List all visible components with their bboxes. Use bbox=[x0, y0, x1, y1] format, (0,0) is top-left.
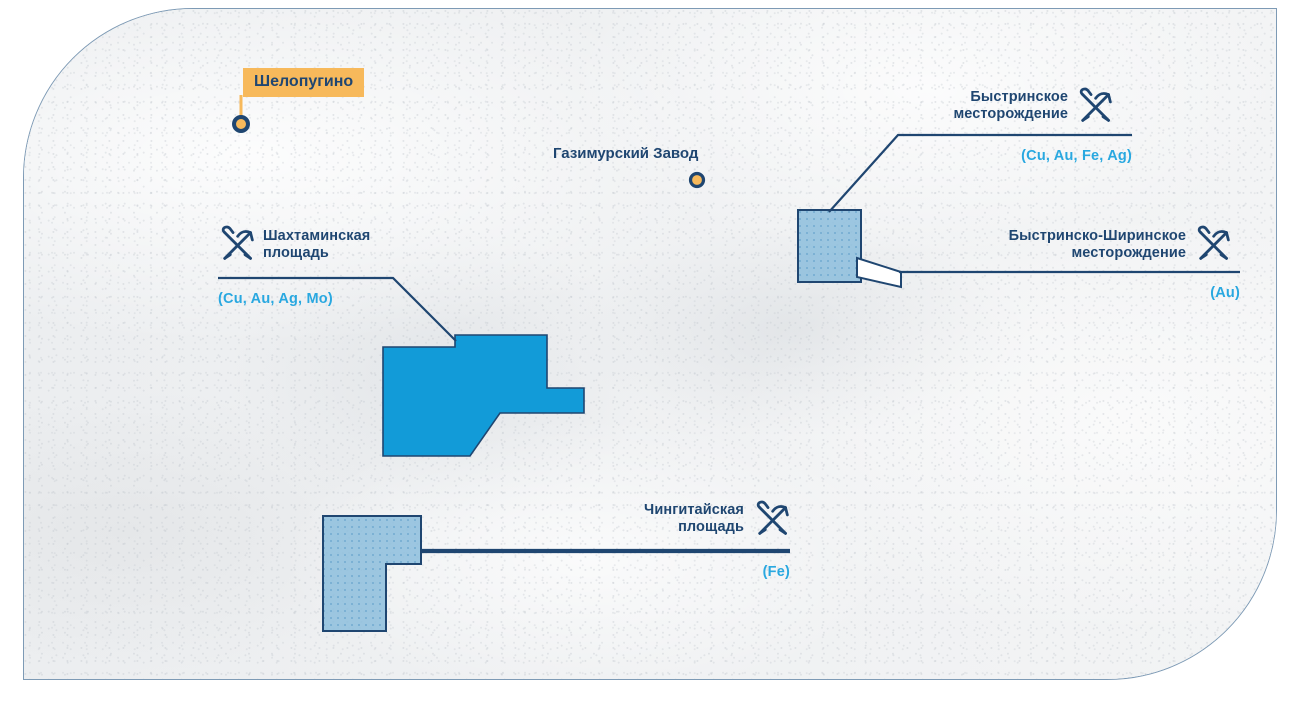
site-minerals-chingitayskaya: (Fe) bbox=[600, 564, 790, 580]
settlement-label-shelopugino[interactable]: Шелопугино bbox=[243, 68, 364, 97]
site-minerals-bystrinskoye: (Cu, Au, Fe, Ag) bbox=[872, 148, 1132, 164]
map-screenshot: Шелопугино Газимурский Завод Шахтаминска… bbox=[0, 0, 1298, 701]
site-minerals-shakhtaminskaya: (Cu, Au, Ag, Mo) bbox=[218, 291, 333, 307]
site-label-bystrinsko-shirinskoye[interactable]: Быстринско-Ширинское месторождение bbox=[930, 228, 1186, 262]
site-minerals-bystrinsko-shirinskoye: (Au) bbox=[1000, 285, 1240, 301]
site-label-bystrinskoye[interactable]: Быстринское месторождение bbox=[872, 89, 1068, 123]
site-label-shakhtaminskaya[interactable]: Шахтаминская площадь bbox=[263, 228, 370, 262]
settlement-gazimurskiy-zavod-group[interactable] bbox=[691, 174, 704, 187]
ring-marker[interactable] bbox=[234, 117, 248, 131]
settlement-label-gazimurskiy-zavod[interactable]: Газимурский Завод bbox=[553, 145, 698, 162]
polygon-bystrinskoye[interactable] bbox=[798, 210, 861, 282]
site-label-chingitayskaya[interactable]: Чингитайская площадь bbox=[596, 502, 744, 536]
dot-marker[interactable] bbox=[691, 174, 704, 187]
